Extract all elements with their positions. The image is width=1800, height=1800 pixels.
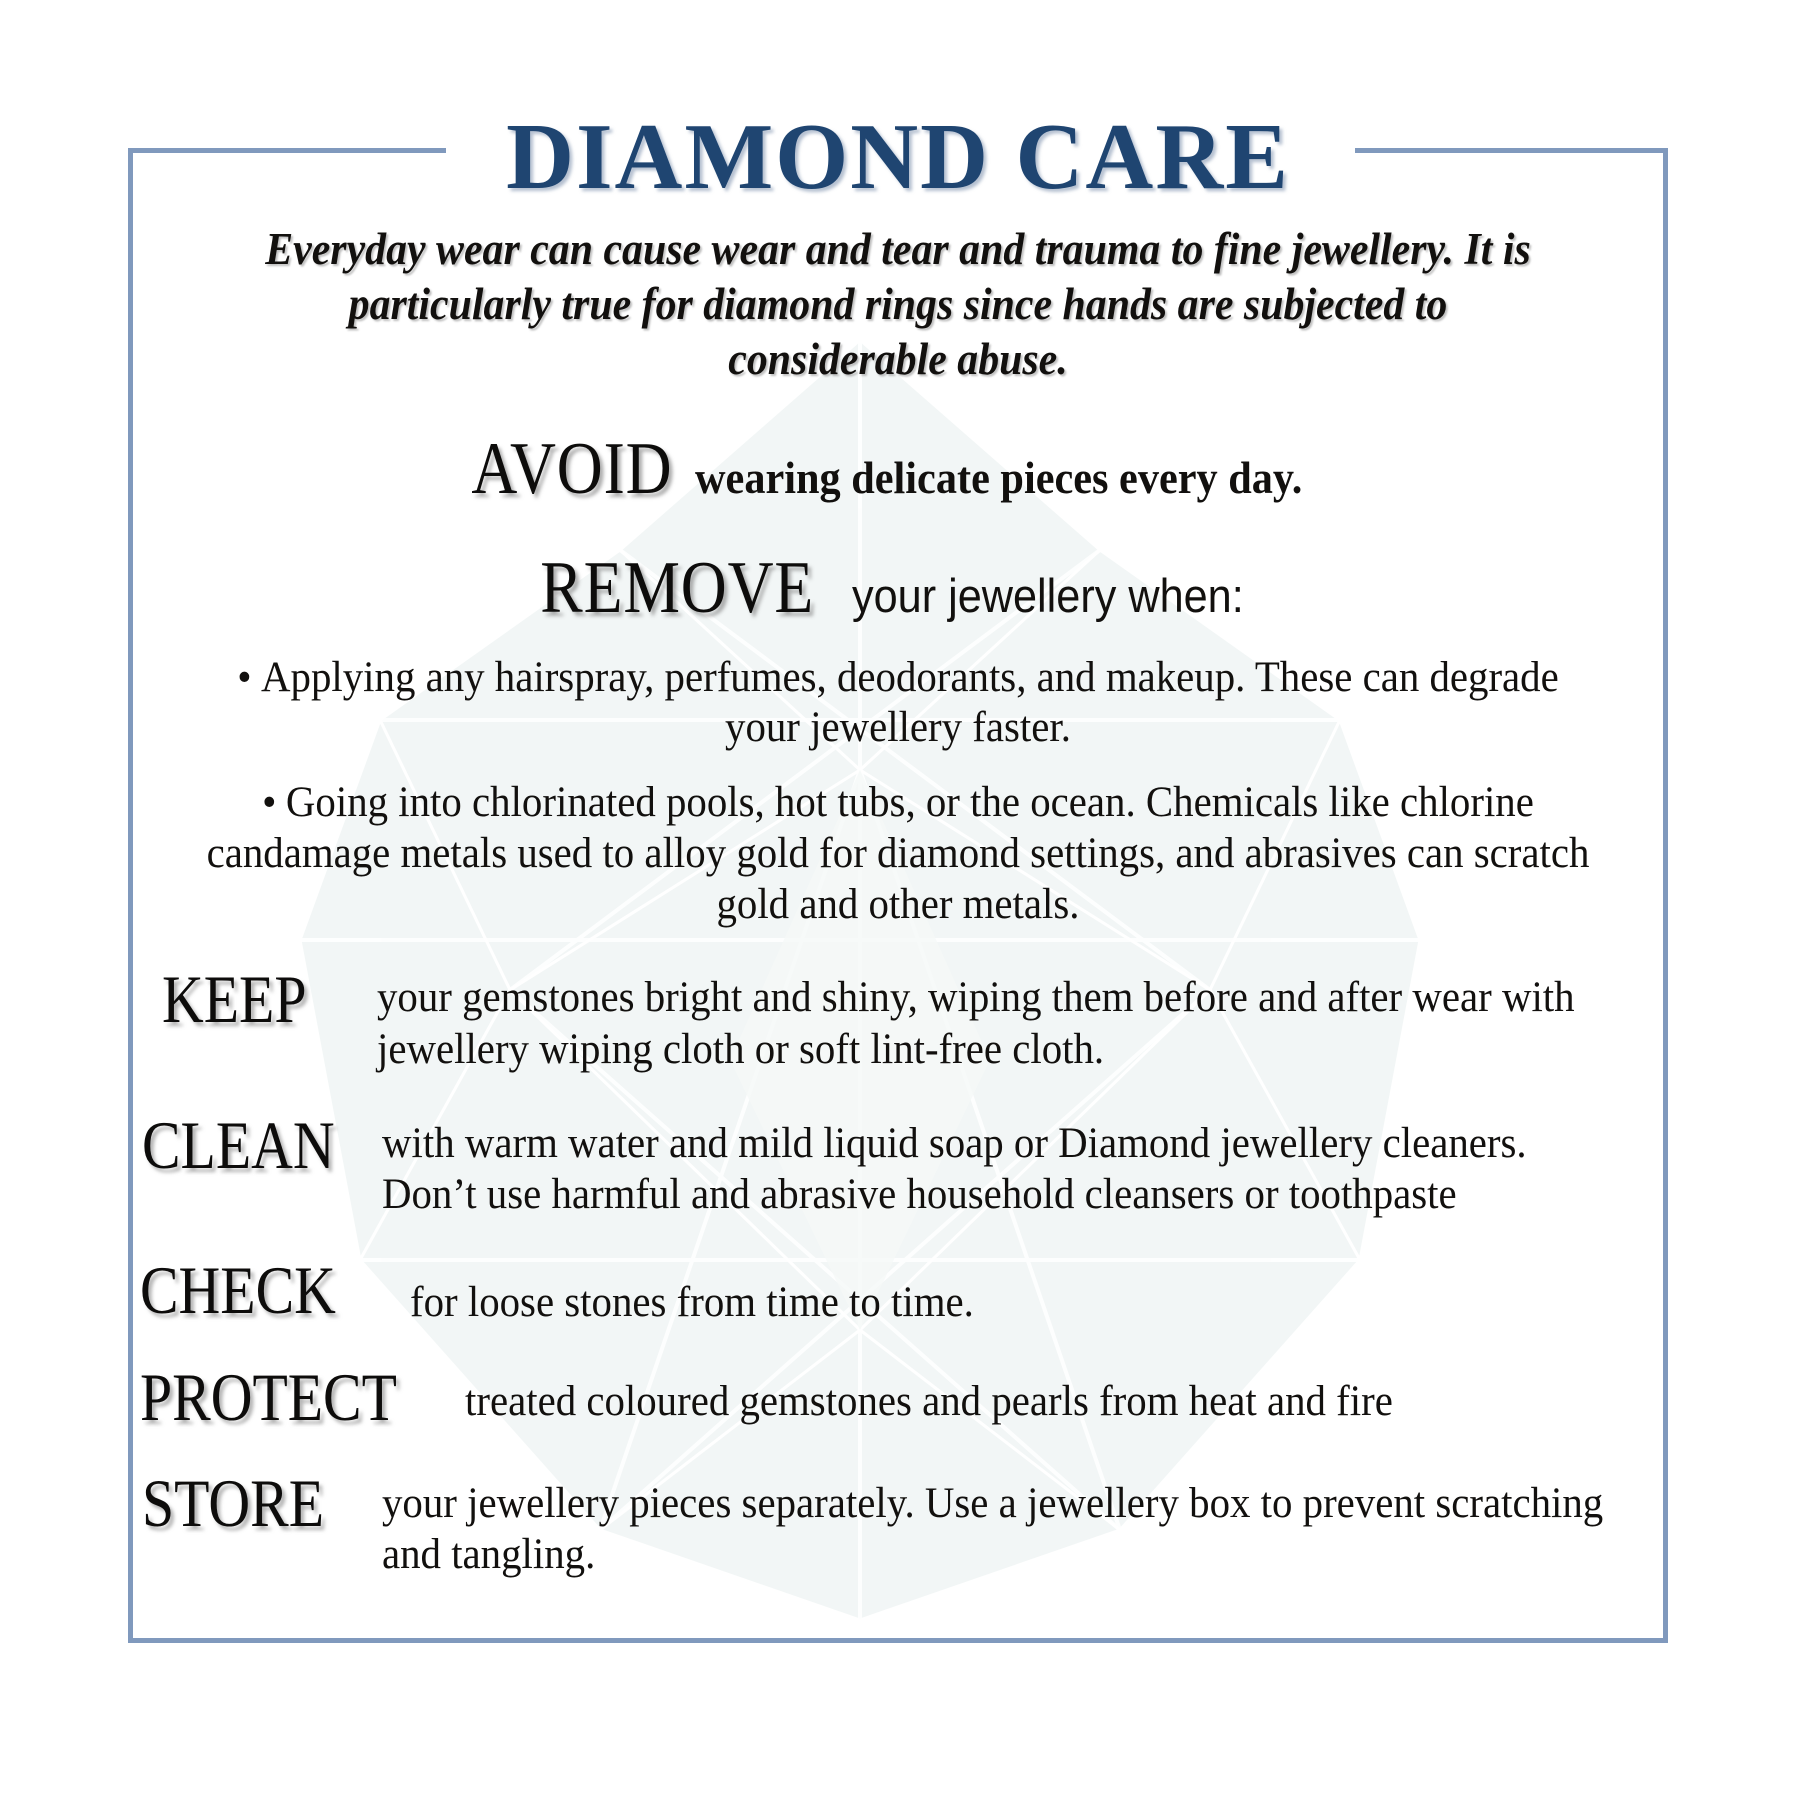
- protect-keyword: PROTECT: [140, 1362, 397, 1433]
- keep-keyword: KEEP: [162, 964, 307, 1035]
- remove-description: your jewellery when:: [852, 568, 1244, 623]
- list-item: •Going into chlorinated pools, hot tubs,…: [167, 778, 1630, 930]
- keep-keyword-cell: KEEP: [128, 964, 377, 1035]
- section-check: CHECK for loose stones from time to time…: [128, 1255, 1668, 1329]
- avoid-row: AVOIDwearing delicate pieces every day.: [128, 427, 1668, 512]
- clean-body: with warm water and mild liquid soap or …: [382, 1110, 1604, 1221]
- avoid-description: wearing delicate pieces every day.: [695, 452, 1302, 504]
- section-protect: PROTECT treated coloured gemstones and p…: [128, 1362, 1668, 1433]
- remove-row: REMOVEyour jewellery when:: [128, 546, 1668, 631]
- border-bottom-rule: [128, 1638, 1668, 1643]
- clean-keyword: CLEAN: [142, 1110, 335, 1181]
- bullet-text: Going into chlorinated pools, hot tubs, …: [207, 779, 1590, 927]
- store-keyword-cell: STORE: [128, 1468, 382, 1539]
- check-body: for loose stones from time to time.: [410, 1255, 1605, 1329]
- poster-content: DIAMOND CARE Everyday wear can cause wea…: [128, 100, 1668, 1581]
- bullet-text: Applying any hairspray, perfumes, deodor…: [261, 654, 1559, 752]
- section-store: STORE your jewellery pieces separately. …: [128, 1468, 1668, 1581]
- section-clean: CLEAN with warm water and mild liquid so…: [128, 1110, 1668, 1221]
- bullet-icon: •: [237, 653, 251, 704]
- diamond-care-poster: DIAMOND CARE Everyday wear can cause wea…: [0, 0, 1800, 1800]
- store-keyword: STORE: [142, 1468, 324, 1539]
- keep-body: your gemstones bright and shiny, wiping …: [377, 964, 1603, 1075]
- list-item: •Applying any hairspray, perfumes, deodo…: [167, 653, 1630, 754]
- clean-keyword-cell: CLEAN: [128, 1110, 382, 1181]
- protect-keyword-cell: PROTECT: [128, 1362, 465, 1433]
- avoid-keyword: AVOID: [471, 427, 672, 512]
- remove-bullet-list: •Applying any hairspray, perfumes, deodo…: [128, 653, 1668, 931]
- bullet-icon: •: [262, 778, 276, 829]
- store-body: your jewellery pieces separately. Use a …: [382, 1468, 1604, 1581]
- check-keyword-cell: CHECK: [128, 1255, 410, 1326]
- protect-body: treated coloured gemstones and pearls fr…: [465, 1362, 1608, 1428]
- intro-paragraph: Everyday wear can cause wear and tear an…: [238, 222, 1559, 387]
- section-keep: KEEP your gemstones bright and shiny, wi…: [128, 964, 1668, 1075]
- remove-keyword: REMOVE: [540, 546, 814, 631]
- page-title: DIAMOND CARE: [128, 100, 1668, 204]
- check-keyword: CHECK: [140, 1255, 336, 1326]
